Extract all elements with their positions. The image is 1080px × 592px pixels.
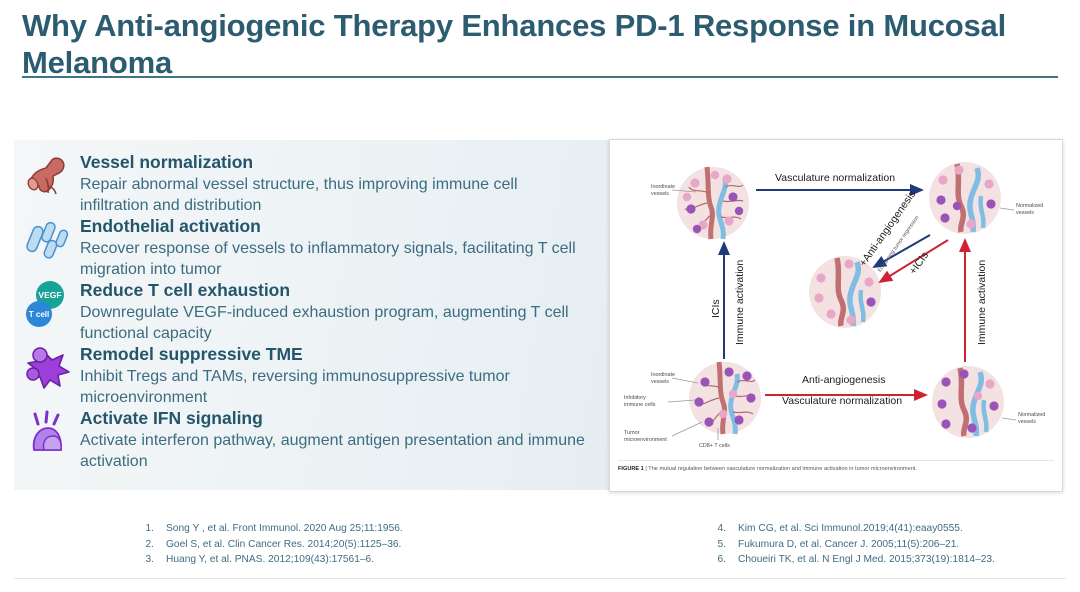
- list-item-heading: Activate IFN signaling: [80, 408, 590, 430]
- footer-divider: [14, 578, 1066, 579]
- list-item-body: Activate interferon pathway, augment ant…: [80, 430, 590, 473]
- figure-label-normalized-vessels-bottom: Normalizedvessels: [1018, 412, 1045, 426]
- list-item-body: Recover response of vessels to inflammat…: [80, 238, 590, 281]
- vegf-tcell-icon: VEGF T cell: [22, 280, 76, 330]
- list-item-heading: Remodel suppressive TME: [80, 344, 590, 366]
- list-item-body: Inhibit Tregs and TAMs, reversing immuno…: [80, 366, 590, 409]
- figure-caption-separator: |: [645, 466, 646, 472]
- reference-text: Song Y , et al. Front Immunol. 2020 Aug …: [166, 521, 403, 537]
- figure-label-inhibitory-immune-cells: Inhibitoryimmune cells: [624, 395, 655, 409]
- list-item-body: Repair abnormal vessel structure, thus i…: [80, 174, 590, 217]
- list-item: Activate IFN signaling Activate interfer…: [22, 408, 590, 472]
- figure-label-inordinate-vessels-top: Inordinatevessels: [651, 184, 675, 198]
- ifn-signaling-cell-icon: [22, 408, 76, 458]
- tcell-label: T cell: [29, 310, 49, 319]
- reference-number: 5.: [700, 537, 738, 553]
- figure-label-inordinate-vessels-bottom: Inordinatevessels: [651, 372, 675, 386]
- list-item: Vessel normalization Repair abnormal ves…: [22, 152, 590, 216]
- figure-panel: Inordinatevessels Normalizedvessels Inor…: [609, 139, 1063, 492]
- suppressive-cell-icon: [22, 344, 76, 394]
- reference-item: 6. Choueiri TK, et al. N Engl J Med. 201…: [700, 552, 1080, 568]
- vegf-label: VEGF: [38, 290, 61, 300]
- figure-caption-label: FIGURE 1: [618, 466, 644, 472]
- mechanism-list-panel: Vessel normalization Repair abnormal ves…: [14, 140, 609, 490]
- figure-arrow-label-immune-activation-left: Immune activation: [734, 260, 746, 345]
- figure-caption-text: The mutual regulation between vasculatur…: [648, 466, 917, 472]
- reference-text: Kim CG, et al. Sci Immunol.2019;4(41):ea…: [738, 521, 963, 537]
- blood-vessel-icon: [22, 152, 76, 202]
- reference-text: Goel S, et al. Clin Cancer Res. 2014;20(…: [166, 537, 401, 553]
- list-item: Remodel suppressive TME Inhibit Tregs an…: [22, 344, 590, 408]
- figure-arrow-label-icis: ICIs: [710, 299, 722, 318]
- list-item-body: Downregulate VEGF-induced exhaustion pro…: [80, 302, 590, 345]
- figure-label-cd8-t-cells: CD8+ T cells: [699, 443, 730, 450]
- list-item-heading: Endothelial activation: [80, 216, 590, 238]
- figure-arrow-label-top: Vasculature normalization: [775, 172, 895, 184]
- title-divider: [22, 76, 1058, 78]
- reference-item: 3. Huang Y, et al. PNAS. 2012;109(43):17…: [128, 552, 528, 568]
- figure-label-tumor-microenvironment: Tumormicroenvironment: [624, 430, 667, 444]
- reference-number: 6.: [700, 552, 738, 568]
- list-item-heading: Vessel normalization: [80, 152, 590, 174]
- figure-arrow-label-immune-activation-right: Immune activation: [976, 260, 988, 345]
- reference-text: Fukumura D, et al. Cancer J. 2005;11(5):…: [738, 537, 959, 553]
- reference-item: 2. Goel S, et al. Clin Cancer Res. 2014;…: [128, 537, 528, 553]
- reference-number: 2.: [128, 537, 166, 553]
- reference-item: 5. Fukumura D, et al. Cancer J. 2005;11(…: [700, 537, 1080, 553]
- reference-item: 4. Kim CG, et al. Sci Immunol.2019;4(41)…: [700, 521, 1080, 537]
- reference-text: Choueiri TK, et al. N Engl J Med. 2015;3…: [738, 552, 995, 568]
- endothelial-cell-icon: [22, 216, 76, 266]
- reference-text: Huang Y, et al. PNAS. 2012;109(43):17561…: [166, 552, 374, 568]
- figure-arrow-label-bottom-1: Anti-angiogenesis: [802, 374, 885, 386]
- figure-diagram: [610, 140, 1062, 491]
- list-item: Endothelial activation Recover response …: [22, 216, 590, 280]
- reference-number: 4.: [700, 521, 738, 537]
- reference-number: 1.: [128, 521, 166, 537]
- references-column-left: 1. Song Y , et al. Front Immunol. 2020 A…: [128, 521, 528, 568]
- list-item-heading: Reduce T cell exhaustion: [80, 280, 590, 302]
- page-title: Why Anti-angiogenic Therapy Enhances PD-…: [22, 8, 1032, 81]
- reference-number: 3.: [128, 552, 166, 568]
- figure-label-normalized-vessels-top: Normalizedvessels: [1016, 203, 1043, 217]
- references-column-right: 4. Kim CG, et al. Sci Immunol.2019;4(41)…: [700, 521, 1080, 568]
- list-item: VEGF T cell Reduce T cell exhaustion Dow…: [22, 280, 590, 344]
- reference-item: 1. Song Y , et al. Front Immunol. 2020 A…: [128, 521, 528, 537]
- figure-arrow-label-bottom-2: Vasculature normalization: [782, 395, 902, 407]
- figure-caption: FIGURE 1 | The mutual regulation between…: [618, 460, 1054, 473]
